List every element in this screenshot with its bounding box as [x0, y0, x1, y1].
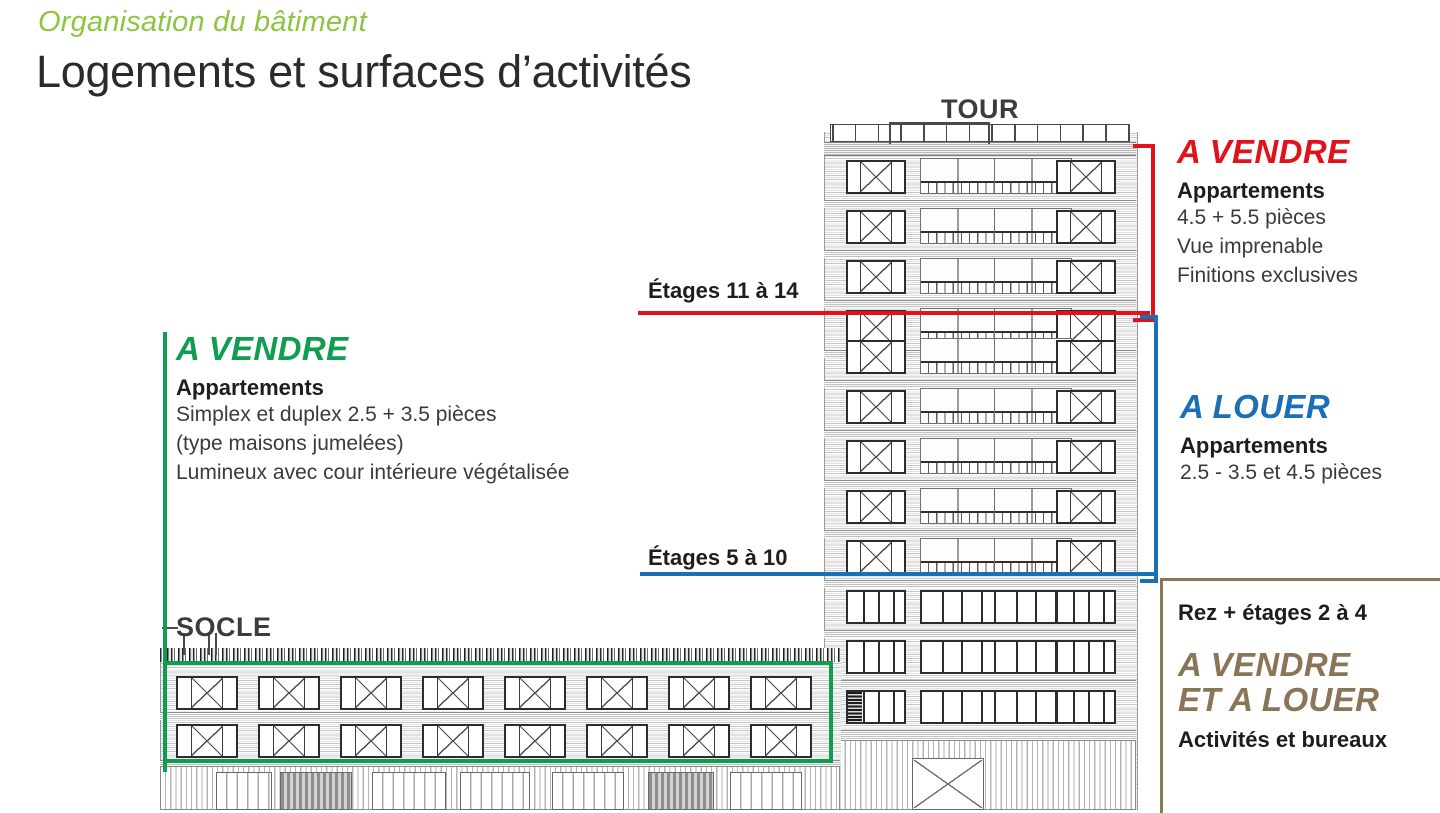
floor-slab — [824, 680, 1136, 688]
roof-balustrade-post — [946, 124, 948, 142]
apartment-window-left — [846, 310, 906, 344]
annotation-mid-right: A LOUER Appartements 2.5 - 3.5 et 4.5 pi… — [1180, 390, 1382, 488]
apartment-window-left — [846, 440, 906, 474]
annotation-top-right-line-3: Finitions exclusives — [1177, 262, 1358, 291]
office-window — [1056, 590, 1116, 624]
tower-entrance-cross — [914, 760, 982, 808]
roof-slab — [824, 142, 1136, 156]
annotation-left-line-2: (type maisons jumelées) — [176, 430, 569, 459]
apartment-window-left — [846, 490, 906, 524]
annotation-mid-right-heading: A LOUER — [1180, 390, 1382, 425]
socle-ground-bay — [372, 772, 446, 810]
floor-slab — [824, 530, 1136, 538]
page-title: Logements et surfaces d’activités — [36, 46, 691, 98]
apartment-window-left — [846, 540, 906, 574]
socle-roof-hatch — [160, 648, 840, 662]
apartment-window-left — [846, 160, 906, 194]
office-window — [846, 640, 906, 674]
floor-label-top: Étages 11 à 14 — [648, 278, 798, 304]
roof-balustrade-post — [1014, 124, 1016, 142]
annotation-top-right-line-1: 4.5 + 5.5 pièces — [1177, 204, 1358, 233]
socle-ground-bay — [280, 772, 352, 810]
apartment-window-right — [1056, 490, 1116, 524]
green-socle-highlight-box — [163, 661, 833, 763]
annotation-bottom-right-floors: Rez + étages 2 à 4 — [1178, 600, 1387, 626]
floor-label-mid: Étages 5 à 10 — [648, 545, 787, 571]
floor-slab — [824, 730, 1136, 738]
balcony-left — [920, 538, 998, 574]
roof-balustrade-post — [1128, 124, 1130, 142]
office-window — [1056, 690, 1116, 724]
annotation-left-line-1: Simplex et duplex 2.5 + 3.5 pièces — [176, 401, 569, 430]
annotation-top-right-heading: A VENDRE — [1177, 135, 1358, 170]
annotation-left-subheading: Appartements — [176, 375, 569, 401]
apartment-window-right — [1056, 440, 1116, 474]
tour-leader-right — [988, 122, 990, 144]
annotation-bottom-right-heading-1: A VENDRE — [1178, 648, 1387, 683]
roof-balustrade-post — [1037, 124, 1039, 142]
red-bracket — [1133, 144, 1155, 322]
annotation-left-line-3: Lumineux avec cour intérieure végétalisé… — [176, 459, 569, 488]
annotation-bottom-right-subheading: Activités et bureaux — [1178, 727, 1387, 753]
floor-slab — [824, 380, 1136, 388]
floor-slab — [824, 480, 1136, 488]
slide-canvas: Organisation du bâtiment Logements et su… — [0, 0, 1440, 810]
tour-leader-left — [889, 122, 891, 144]
floor-slab — [824, 580, 1136, 588]
socle-label: SOCLE — [176, 612, 272, 643]
annotation-bottom-right: Rez + étages 2 à 4 A VENDRE ET A LOUER A… — [1178, 600, 1387, 753]
apartment-window-left — [846, 340, 906, 374]
floor-slab — [824, 630, 1136, 638]
office-window — [1056, 640, 1116, 674]
red-floor-rule — [638, 311, 1150, 315]
roof-balustrade-post — [1105, 124, 1107, 142]
floor-slab — [824, 300, 1136, 308]
blue-floor-rule — [640, 572, 1154, 576]
socle-ground-bay — [552, 772, 624, 810]
office-window — [846, 590, 906, 624]
annotation-left: A VENDRE Appartements Simplex et duplex … — [176, 332, 569, 488]
floor-slab — [824, 250, 1136, 258]
office-window — [920, 690, 998, 724]
apartment-window-right — [1056, 340, 1116, 374]
annotation-top-right-subheading: Appartements — [1177, 178, 1358, 204]
annotation-bottom-right-heading-2: ET A LOUER — [1178, 683, 1387, 718]
slide-eyebrow: Organisation du bâtiment — [38, 6, 367, 39]
annotation-left-heading: A VENDRE — [176, 332, 569, 367]
roof-balustrade-post — [900, 124, 902, 142]
office-window — [920, 640, 998, 674]
balcony-left — [920, 388, 998, 424]
balcony-left — [920, 438, 998, 474]
apartment-window-right — [1056, 540, 1116, 574]
roof-balustrade-post — [855, 124, 857, 142]
apartment-window-left — [846, 260, 906, 294]
roof-balustrade-post — [832, 124, 834, 142]
balcony-left — [920, 158, 998, 194]
floor-slab — [824, 430, 1136, 438]
dark-panel — [848, 692, 862, 722]
apartment-window-right — [1056, 390, 1116, 424]
roof-balustrade-post — [991, 124, 993, 142]
socle-ground-bay — [648, 772, 714, 810]
annotation-top-right: A VENDRE Appartements 4.5 + 5.5 pièces V… — [1177, 135, 1358, 291]
annotation-mid-right-line-1: 2.5 - 3.5 et 4.5 pièces — [1180, 459, 1382, 488]
annotation-mid-right-subheading: Appartements — [1180, 433, 1382, 459]
annotation-top-right-line-2: Vue imprenable — [1177, 233, 1358, 262]
roof-balustrade-post — [923, 124, 925, 142]
balcony-left — [920, 338, 998, 374]
balcony-left — [920, 258, 998, 294]
tour-label: TOUR — [941, 94, 1019, 125]
balcony-left — [920, 488, 998, 524]
floor-slab — [824, 200, 1136, 208]
socle-ground-bay — [216, 772, 272, 810]
apartment-window-left — [846, 210, 906, 244]
roof-balustrade-post — [878, 124, 880, 142]
roof-balustrade — [830, 124, 1130, 142]
socle-ground-bay — [730, 772, 802, 810]
roof-balustrade-post — [969, 124, 971, 142]
apartment-window-right — [1056, 210, 1116, 244]
socle-ground-bay — [460, 772, 530, 810]
office-window — [920, 590, 998, 624]
balcony-left — [920, 208, 998, 244]
roof-balustrade-post — [1082, 124, 1084, 142]
apartment-window-left — [846, 390, 906, 424]
roof-balustrade-post — [1060, 124, 1062, 142]
apartment-window-right — [1056, 260, 1116, 294]
apartment-window-right — [1056, 160, 1116, 194]
blue-bracket — [1140, 315, 1158, 583]
